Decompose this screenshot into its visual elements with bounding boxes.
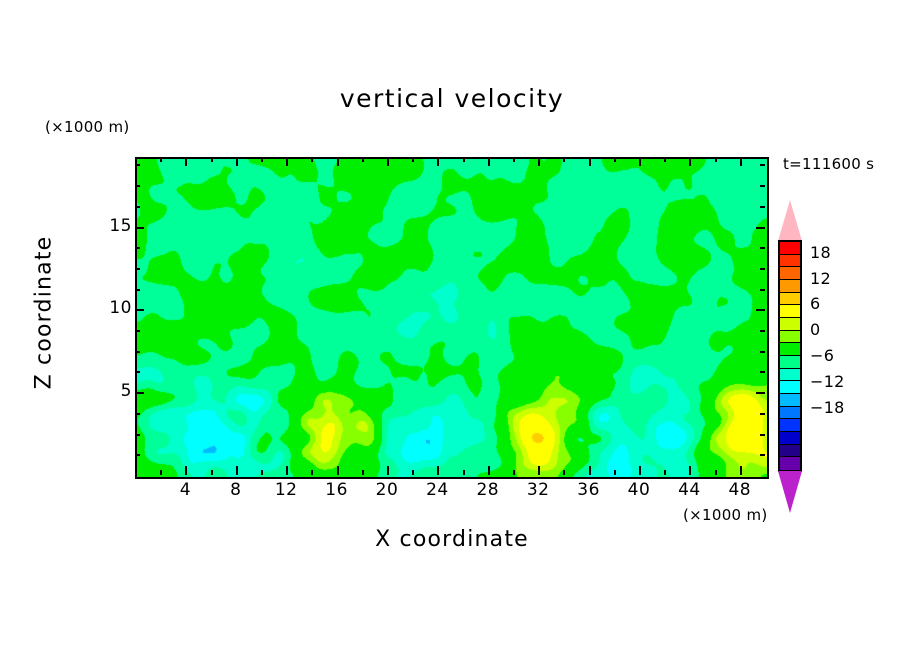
tick-mark (362, 157, 364, 162)
tick-mark (760, 434, 765, 436)
tick-mark (387, 157, 389, 166)
tick-mark (135, 392, 144, 394)
tick-mark (135, 413, 140, 415)
tick-mark (412, 470, 414, 475)
z-axis-units-label: (×1000 m) (45, 118, 130, 136)
colorbar-tick-label: 18 (810, 243, 831, 262)
tick-mark (135, 247, 140, 249)
tick-mark (760, 330, 765, 332)
tick-mark (689, 466, 691, 475)
tick-mark (756, 309, 765, 311)
colorbar-tick-label: −6 (810, 346, 834, 365)
tick-mark (160, 157, 162, 162)
colorbar-tick-label: −12 (810, 372, 845, 391)
tick-mark (614, 157, 616, 162)
tick-mark (311, 470, 313, 475)
tick-mark (589, 466, 591, 475)
tick-mark (639, 157, 641, 166)
tick-mark (261, 470, 263, 475)
tick-mark (337, 466, 339, 475)
colorbar-under-arrow (778, 471, 802, 513)
page-title: vertical velocity (0, 84, 904, 113)
tick-mark (135, 454, 140, 456)
tick-mark (337, 157, 339, 166)
tick-mark (760, 247, 765, 249)
colorbar-band (780, 255, 800, 268)
colorbar-tick-label: 0 (810, 320, 820, 339)
colorbar-band (780, 305, 800, 318)
colorbar-band (780, 318, 800, 331)
tick-mark (463, 157, 465, 162)
y-tick-label: 10 (88, 298, 132, 318)
tick-mark (756, 227, 765, 229)
tick-mark (760, 413, 765, 415)
tick-mark (185, 466, 187, 475)
tick-mark (437, 466, 439, 475)
tick-mark (760, 371, 765, 373)
colorbar-band (780, 445, 800, 458)
tick-mark (756, 392, 765, 394)
colorbar-band (780, 457, 800, 470)
tick-mark (614, 470, 616, 475)
colorbar-over-arrow (778, 200, 802, 241)
colorbar-band (780, 242, 800, 255)
tick-mark (437, 157, 439, 166)
tick-mark (639, 466, 641, 475)
tick-mark (513, 470, 515, 475)
tick-mark (689, 157, 691, 166)
tick-mark (387, 466, 389, 475)
tick-mark (715, 470, 717, 475)
tick-mark (412, 157, 414, 162)
tick-mark (286, 466, 288, 475)
tick-mark (362, 470, 364, 475)
colorbar-band (780, 356, 800, 369)
tick-mark (135, 330, 140, 332)
timestamp-label: t=111600 s (783, 155, 874, 173)
tick-mark (760, 185, 765, 187)
tick-mark (135, 351, 140, 353)
x-tick-label: 48 (710, 480, 770, 500)
colorbar-band (780, 267, 800, 280)
tick-mark (135, 268, 140, 270)
vertical-velocity-contour-field (137, 159, 767, 477)
tick-mark (760, 454, 765, 456)
y-tick-label: 15 (88, 216, 132, 236)
y-tick-label: 5 (88, 381, 132, 401)
tick-mark (135, 206, 140, 208)
tick-mark (185, 157, 187, 166)
tick-mark (135, 434, 140, 436)
tick-mark (236, 157, 238, 166)
tick-mark (311, 157, 313, 162)
colorbar-band (780, 432, 800, 445)
x-axis-units-label: (×1000 m) (683, 506, 768, 524)
tick-mark (664, 157, 666, 162)
tick-mark (135, 227, 144, 229)
tick-mark (488, 157, 490, 166)
tick-mark (135, 289, 140, 291)
colorbar-tick-label: −18 (810, 398, 845, 417)
tick-mark (286, 157, 288, 166)
tick-mark (236, 466, 238, 475)
tick-mark (740, 157, 742, 166)
contour-plot-panel (135, 157, 769, 479)
tick-mark (538, 157, 540, 166)
colorbar-band (780, 343, 800, 356)
tick-mark (135, 185, 140, 187)
tick-mark (760, 206, 765, 208)
colorbar-band (780, 293, 800, 306)
tick-mark (563, 157, 565, 162)
tick-mark (135, 371, 140, 373)
colorbar-band (780, 331, 800, 344)
colorbar-bands (778, 240, 802, 472)
tick-mark (160, 470, 162, 475)
figure-canvas: vertical velocity (×1000 m) (×1000 m) t=… (0, 0, 904, 654)
tick-mark (135, 309, 144, 311)
tick-mark (563, 470, 565, 475)
tick-mark (513, 157, 515, 162)
tick-mark (760, 289, 765, 291)
tick-mark (135, 164, 140, 166)
colorbar-band (780, 407, 800, 420)
colorbar-band (780, 381, 800, 394)
tick-mark (463, 470, 465, 475)
tick-mark (760, 268, 765, 270)
tick-mark (760, 351, 765, 353)
tick-mark (715, 157, 717, 162)
colorbar-tick-label: 12 (810, 269, 831, 288)
tick-mark (664, 470, 666, 475)
tick-mark (589, 157, 591, 166)
tick-mark (211, 470, 213, 475)
tick-mark (740, 466, 742, 475)
tick-mark (760, 164, 765, 166)
x-axis-title: X coordinate (0, 527, 904, 552)
tick-mark (488, 466, 490, 475)
colorbar-band (780, 419, 800, 432)
colorbar-band (780, 394, 800, 407)
colorbar: 181260−6−12−18 (778, 200, 802, 512)
tick-mark (538, 466, 540, 475)
colorbar-band (780, 280, 800, 293)
y-axis-title: Z coordinate (32, 203, 57, 423)
colorbar-tick-label: 6 (810, 294, 820, 313)
tick-mark (211, 157, 213, 162)
tick-mark (261, 157, 263, 162)
colorbar-band (780, 369, 800, 382)
